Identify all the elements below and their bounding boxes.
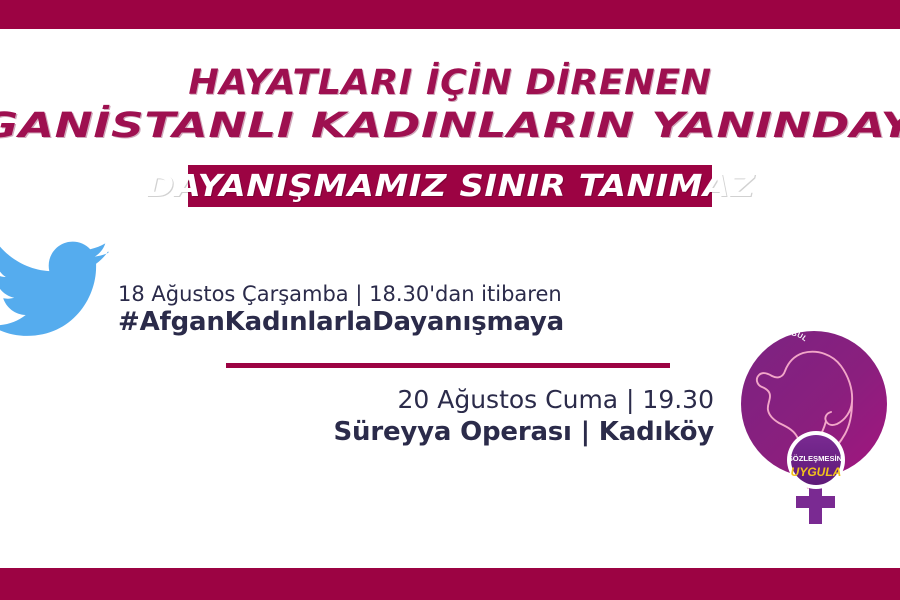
- event-date-1: 18 Ağustos Çarşamba | 18.30'dan itibaren: [118, 281, 564, 307]
- info-block-primary: 18 Ağustos Çarşamba | 18.30'dan itibaren…: [118, 281, 564, 339]
- headline-highlight-band: DAYANIŞMAMIZ SINIR TANIMAZ: [188, 165, 712, 207]
- event-hashtag: #AfganKadınlarlaDayanışmaya: [118, 307, 564, 339]
- top-accent-bar: [0, 0, 900, 29]
- info-block-secondary: 20 Ağustos Cuma | 19.30 Süreyya Operası …: [0, 384, 714, 449]
- headline-line-3: DAYANIŞMAMIZ SINIR TANIMAZ: [146, 169, 755, 204]
- badge-text-line-3: UYGULA: [791, 465, 842, 479]
- headline-line-1: HAYATLARI İÇİN DİRENEN: [0, 66, 900, 101]
- twitter-bird-icon: [0, 236, 112, 346]
- event-venue: Süreyya Operası | Kadıköy: [0, 417, 714, 449]
- badge-text-line-2: SÖZLEŞMESİNİ: [788, 454, 845, 463]
- headline-line-2: AFGANİSTANLI KADINLARIN YANINDAYIZ!: [0, 109, 900, 144]
- headline-group: HAYATLARI İÇİN DİRENEN AFGANİSTANLI KADI…: [0, 66, 900, 144]
- section-divider: [226, 363, 670, 368]
- bottom-accent-bar: [0, 568, 900, 600]
- event-date-2: 20 Ağustos Cuma | 19.30: [0, 384, 714, 415]
- poster-canvas: HAYATLARI İÇİN DİRENEN AFGANİSTANLI KADI…: [0, 0, 900, 600]
- istanbul-sozlesmesi-logo: İSTANBUL SÖZLEŞMESİNİ UYGULA: [740, 330, 892, 530]
